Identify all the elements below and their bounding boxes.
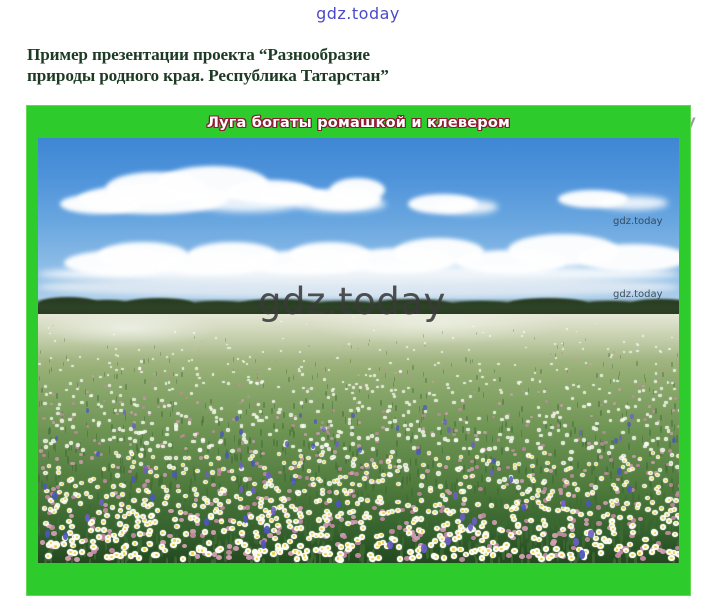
daisy-flower <box>328 420 332 423</box>
violet-flower <box>123 410 127 415</box>
violet-flower <box>172 471 177 478</box>
daisy-flower <box>299 351 301 353</box>
grass-blade <box>501 447 503 455</box>
daisy-flower <box>655 346 657 348</box>
daisy-flower <box>521 335 523 337</box>
daisy-center <box>675 500 677 502</box>
daisy-flower <box>566 328 568 330</box>
clover-flower <box>583 469 587 473</box>
daisy-flower <box>645 442 649 446</box>
daisy-flower <box>497 363 500 365</box>
daisy-center <box>671 455 673 457</box>
grass-blade <box>190 478 192 487</box>
daisy-flower <box>114 409 118 412</box>
daisy-flower <box>196 373 199 376</box>
grass-blade <box>612 461 614 469</box>
daisy-center <box>148 543 151 545</box>
daisy-center <box>50 500 52 502</box>
grass-blade <box>174 556 177 564</box>
clover-flower <box>520 479 525 483</box>
daisy-flower <box>383 416 387 419</box>
daisy-flower <box>446 383 449 386</box>
daisy-flower <box>418 428 422 432</box>
daisy-flower <box>592 384 595 387</box>
clover-flower <box>41 466 45 470</box>
daisy-flower <box>665 426 669 430</box>
grass-blade <box>117 362 118 367</box>
violet-flower <box>132 423 136 429</box>
grass-blade <box>674 424 676 431</box>
daisy-flower <box>587 403 590 406</box>
daisy-flower <box>68 418 72 421</box>
clover-flower <box>618 388 621 390</box>
clover-flower <box>180 392 183 395</box>
clover-flower <box>276 416 279 419</box>
daisy-flower <box>150 422 154 425</box>
grass-blade <box>596 373 597 378</box>
clover-flower <box>437 413 440 416</box>
daisy-center <box>652 452 654 454</box>
daisy-center <box>453 555 456 557</box>
daisy-center <box>322 489 324 491</box>
daisy-flower <box>397 433 401 437</box>
grass-blade <box>463 465 465 473</box>
clover-flower <box>508 350 510 352</box>
violet-flower <box>573 538 579 547</box>
daisy-flower <box>489 335 491 337</box>
clover-flower <box>401 373 404 375</box>
daisy-flower <box>172 353 174 355</box>
daisy-flower <box>107 374 110 377</box>
clover-flower <box>498 402 501 405</box>
grass-blade <box>409 473 411 482</box>
clover-flower <box>380 517 385 522</box>
daisy-flower <box>536 442 540 446</box>
violet-flower <box>55 436 59 442</box>
daisy-flower <box>138 349 140 351</box>
daisy-flower <box>407 410 411 413</box>
clover-flower <box>584 522 589 527</box>
grass-blade <box>249 437 251 444</box>
grass-blade <box>442 447 444 455</box>
grass-blade <box>563 342 564 346</box>
grass-blade <box>51 367 52 372</box>
grass-blade <box>474 485 476 494</box>
grass-blade <box>660 415 662 422</box>
grass-blade <box>75 464 77 472</box>
grass-blade <box>521 430 523 437</box>
daisy-center <box>299 527 301 529</box>
daisy-flower <box>232 371 235 373</box>
grass-blade <box>335 395 337 401</box>
daisy-flower <box>660 448 664 452</box>
clover-flower <box>394 372 397 374</box>
daisy-center <box>340 546 343 548</box>
clover-flower <box>42 417 45 420</box>
daisy-flower <box>577 385 580 388</box>
daisy-flower <box>89 395 92 398</box>
grass-blade <box>465 357 466 361</box>
daisy-flower <box>487 447 491 451</box>
daisy-flower <box>507 428 511 432</box>
daisy-flower <box>182 367 185 369</box>
daisy-center <box>320 454 322 456</box>
daisy-flower <box>441 351 443 353</box>
clover-flower <box>357 374 360 376</box>
daisy-center <box>577 489 579 491</box>
daisy-center <box>137 521 139 523</box>
grass-blade <box>462 426 464 433</box>
grass-blade <box>160 475 162 484</box>
daisy-center <box>582 474 584 476</box>
clover-flower <box>120 349 122 351</box>
daisy-center <box>178 505 180 507</box>
daisy-flower <box>45 393 48 396</box>
grass-blade <box>595 494 597 504</box>
grass-blade <box>476 558 479 563</box>
daisy-flower <box>191 359 193 361</box>
violet-flower <box>472 517 477 525</box>
daisy-flower <box>531 378 534 381</box>
daisy-center <box>115 452 117 454</box>
daisy-center <box>72 545 75 547</box>
grass-blade <box>332 401 334 407</box>
daisy-flower <box>368 368 371 370</box>
daisy-center <box>509 534 512 536</box>
grass-blade <box>234 508 236 518</box>
daisy-center <box>677 514 679 516</box>
grass-blade <box>420 506 422 516</box>
daisy-flower <box>352 386 355 389</box>
daisy-flower <box>226 344 228 346</box>
grass-blade <box>513 329 514 332</box>
daisy-center <box>608 453 610 455</box>
daisy-flower <box>180 414 184 417</box>
daisy-center <box>139 533 142 535</box>
daisy-flower <box>574 439 578 443</box>
daisy-center <box>612 504 614 506</box>
clover-flower <box>381 426 385 429</box>
daisy-flower <box>482 332 484 334</box>
grass-blade <box>89 558 92 563</box>
daisy-center <box>598 531 600 533</box>
daisy-center <box>482 460 484 462</box>
clover-flower <box>555 380 558 382</box>
grass-blade <box>396 440 398 448</box>
grass-blade <box>40 350 41 354</box>
violet-flower <box>220 431 224 437</box>
daisy-flower <box>659 350 661 352</box>
grass-blade <box>176 379 177 384</box>
grass-blade <box>554 449 556 457</box>
daisy-flower <box>278 408 282 411</box>
grass-blade <box>600 410 602 416</box>
daisy-flower <box>454 439 458 443</box>
violet-flower <box>453 492 458 499</box>
clover-flower <box>632 455 636 459</box>
daisy-center <box>324 553 327 555</box>
grass-blade <box>423 372 424 377</box>
daisy-flower <box>201 439 205 443</box>
daisy-flower <box>598 388 601 391</box>
grass-blade <box>649 429 651 436</box>
daisy-flower <box>357 436 361 440</box>
daisy-flower <box>469 380 472 383</box>
grass-blade <box>610 471 612 480</box>
daisy-flower <box>585 362 588 364</box>
daisy-flower <box>557 429 561 433</box>
daisy-flower <box>227 382 230 385</box>
daisy-flower <box>171 388 174 391</box>
daisy-center <box>339 553 342 555</box>
violet-flower <box>471 442 475 448</box>
daisy-flower <box>645 424 649 427</box>
daisy-flower <box>71 365 74 367</box>
clover-flower <box>153 373 156 375</box>
clover-flower <box>473 391 476 393</box>
daisy-flower <box>582 438 586 442</box>
daisy-flower <box>60 419 64 422</box>
daisy-flower <box>128 437 132 441</box>
daisy-center <box>90 496 92 498</box>
daisy-flower <box>678 553 679 559</box>
daisy-flower <box>609 419 613 422</box>
grass-blade <box>63 362 64 367</box>
daisy-center <box>441 538 444 540</box>
clover-flower <box>103 400 106 403</box>
cloud <box>438 200 498 214</box>
clover-flower <box>603 501 608 505</box>
violet-flower <box>243 515 248 523</box>
clover-flower <box>537 391 540 393</box>
grass-blade <box>327 384 328 389</box>
daisy-flower <box>642 389 645 392</box>
daisy-flower <box>332 393 335 396</box>
watermark-photo-small-1: gdz.today <box>613 216 663 227</box>
daisy-flower <box>255 416 259 419</box>
daisy-center <box>447 457 449 459</box>
daisy-flower <box>275 429 279 433</box>
violet-flower <box>261 540 267 549</box>
violet-flower <box>586 500 591 508</box>
clover-flower <box>199 456 203 460</box>
daisy-center <box>221 489 223 491</box>
daisy-flower <box>349 409 353 412</box>
clover-flower <box>286 497 291 501</box>
daisy-center <box>61 526 63 528</box>
grass-blade <box>317 373 318 378</box>
grass-blade <box>151 477 153 486</box>
clover-flower <box>375 432 379 435</box>
daisy-center <box>359 484 361 486</box>
daisy-flower <box>500 418 504 421</box>
daisy-flower <box>413 400 416 403</box>
clover-flower <box>212 354 214 356</box>
clover-flower <box>327 490 332 494</box>
daisy-flower <box>166 356 168 358</box>
daisy-flower <box>58 403 61 406</box>
grass-blade <box>671 362 672 367</box>
clover-flower <box>383 370 386 372</box>
grass-blade <box>392 402 394 408</box>
clover-flower <box>179 518 184 523</box>
daisy-center <box>454 538 457 540</box>
grass-blade <box>205 403 207 409</box>
daisy-flower <box>166 427 170 431</box>
clover-flower <box>298 506 303 510</box>
grass-blade <box>368 394 370 400</box>
clover-flower <box>143 483 148 487</box>
daisy-flower <box>139 367 142 369</box>
grass-blade <box>144 379 145 384</box>
grass-blade <box>369 339 370 343</box>
daisy-flower <box>328 369 331 371</box>
daisy-center <box>629 543 632 545</box>
clover-flower <box>297 475 302 479</box>
daisy-center <box>299 545 302 547</box>
daisy-flower <box>610 445 614 449</box>
grass-blade <box>49 427 51 434</box>
clover-flower <box>79 460 83 464</box>
daisy-flower <box>610 356 612 358</box>
daisy-center <box>544 508 546 510</box>
daisy-flower <box>227 363 230 365</box>
daisy-flower <box>38 363 41 365</box>
violet-flower <box>416 449 420 455</box>
violet-flower <box>630 414 634 419</box>
grass-blade <box>305 518 307 528</box>
grass-blade <box>108 463 110 471</box>
clover-flower <box>522 526 527 531</box>
daisy-flower <box>406 428 410 432</box>
daisy-flower <box>195 384 198 387</box>
clover-flower <box>217 472 221 476</box>
daisy-flower <box>253 450 257 454</box>
daisy-center <box>299 513 301 515</box>
daisy-flower <box>108 362 111 364</box>
daisy-center <box>459 548 462 550</box>
daisy-flower <box>277 411 281 414</box>
daisy-center <box>131 453 133 455</box>
clover-flower <box>678 364 679 366</box>
clover-flower <box>474 434 478 437</box>
daisy-flower <box>567 407 571 410</box>
daisy-flower <box>303 360 305 362</box>
daisy-flower <box>608 392 611 395</box>
daisy-flower <box>387 409 391 412</box>
clover-flower <box>604 472 608 476</box>
daisy-flower <box>244 440 248 444</box>
daisy-center <box>289 526 291 528</box>
clover-flower <box>564 375 567 377</box>
daisy-flower <box>97 358 99 360</box>
grass-blade <box>315 362 316 367</box>
daisy-center <box>191 552 194 554</box>
daisy-flower <box>607 410 611 413</box>
daisy-center <box>155 554 158 556</box>
grass-blade <box>329 558 332 563</box>
daisy-flower <box>190 392 193 395</box>
daisy-flower <box>500 391 503 394</box>
daisy-flower <box>655 422 659 425</box>
daisy-center <box>179 511 181 513</box>
clover-flower <box>206 353 208 355</box>
daisy-flower <box>292 390 295 393</box>
daisy-center <box>128 513 130 515</box>
daisy-flower <box>583 391 586 394</box>
daisy-center <box>63 543 66 545</box>
daisy-center <box>306 550 309 552</box>
grass-blade <box>393 382 394 387</box>
grass-blade <box>305 398 307 404</box>
daisy-flower <box>44 385 47 388</box>
daisy-flower <box>121 429 125 433</box>
daisy-center <box>390 456 392 458</box>
daisy-flower <box>636 343 638 345</box>
grass-blade <box>240 476 242 485</box>
grass-blade <box>246 409 248 415</box>
clover-flower <box>50 403 53 406</box>
grass-blade <box>592 552 595 563</box>
daisy-center <box>439 464 441 466</box>
daisy-center <box>383 474 385 476</box>
violet-flower <box>490 469 495 476</box>
daisy-flower <box>309 438 313 442</box>
clover-flower <box>357 348 359 350</box>
grass-blade <box>55 474 57 483</box>
grass-blade <box>654 514 656 524</box>
grass-blade <box>655 408 657 414</box>
daisy-center <box>53 511 55 513</box>
grass-blade <box>483 392 485 398</box>
grass-blade <box>395 405 397 411</box>
daisy-flower <box>385 428 389 432</box>
daisy-center <box>93 478 95 480</box>
daisy-center <box>44 507 46 509</box>
violet-flower <box>251 460 255 467</box>
cloud <box>296 196 386 212</box>
grass-blade <box>86 401 88 407</box>
daisy-flower <box>505 415 509 418</box>
daisy-center <box>157 510 159 512</box>
daisy-flower <box>43 439 47 443</box>
grass-blade <box>411 488 413 497</box>
grass-blade <box>260 429 262 436</box>
daisy-flower <box>260 381 263 384</box>
daisy-flower <box>623 341 625 343</box>
clover-flower <box>40 540 46 545</box>
daisy-center <box>514 467 516 469</box>
daisy-center <box>320 528 322 530</box>
daisy-center <box>173 539 176 541</box>
daisy-flower <box>652 398 655 401</box>
clover-flower <box>558 488 563 492</box>
daisy-center <box>513 550 516 552</box>
daisy-center <box>273 529 275 531</box>
clover-flower <box>86 425 90 428</box>
daisy-center <box>465 510 467 512</box>
clover-flower <box>361 383 364 385</box>
daisy-flower <box>424 410 428 413</box>
daisy-center <box>492 554 495 556</box>
clover-flower <box>257 369 260 371</box>
daisy-center <box>644 539 647 541</box>
grass-blade <box>410 458 412 466</box>
violet-flower <box>614 438 618 444</box>
daisy-center <box>283 500 285 502</box>
clover-flower <box>278 471 282 475</box>
daisy-center <box>469 486 471 488</box>
